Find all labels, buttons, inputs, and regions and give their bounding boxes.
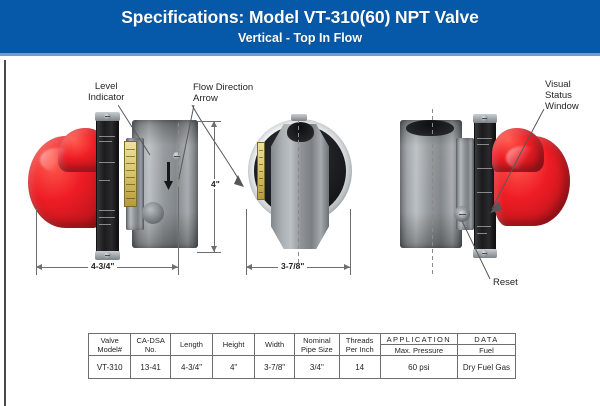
callout-flow-direction-arrow: Flow Direction Arrow: [193, 82, 253, 104]
ext-line-height-top: [197, 121, 221, 122]
plate-screw-top-left: [104, 113, 111, 120]
callout-reset: Reset: [493, 277, 518, 288]
cell-height: 4": [213, 356, 255, 379]
cell-nominal-pipe-size: 3/4": [295, 356, 340, 379]
plate-text-line: [99, 141, 112, 142]
valve-side-view-left: [26, 114, 201, 264]
cell-length: 4-3/4": [170, 356, 212, 379]
dim-label-height: 4": [208, 179, 223, 189]
dim-label-length: 4-3/4": [88, 261, 117, 271]
callout-visual-status-window: Visual Status Window: [545, 79, 579, 112]
valve-body-shading-right: [400, 120, 462, 248]
reset-screw-right: [458, 210, 467, 219]
th-max-pressure: Max. Pressure: [380, 345, 457, 356]
valve-bore-right: [406, 120, 454, 136]
header-underline: [0, 53, 600, 56]
th-group-application: APPLICATION: [380, 334, 457, 345]
cell-valve-model: VT-310: [89, 356, 131, 379]
dim-arrow-height-bottom: [211, 246, 217, 252]
valve-hub-left: [142, 202, 164, 224]
plate-text-line: [99, 136, 115, 137]
leader-level-indicator: [118, 105, 154, 157]
dim-arrow-width-right: [344, 264, 350, 270]
table-header-row-1: Valve Model# CA-DSA No. Length Height Wi…: [89, 334, 516, 345]
cell-fuel: Dry Fuel Gas: [457, 356, 515, 379]
page-header: Specifications: Model VT-310(60) NPT Val…: [0, 0, 600, 56]
th-height: Height: [213, 334, 255, 356]
ext-line-height-bottom: [197, 252, 221, 253]
flow-direction-arrow-glyph: [162, 162, 175, 192]
dim-arrow-height-top: [211, 121, 217, 127]
page-subtitle: Vertical - Top In Flow: [0, 29, 600, 47]
page-title: Specifications: Model VT-310(60) NPT Val…: [0, 7, 600, 28]
plate-text-line: [99, 224, 111, 225]
table-row: VT-310 13-41 4-3/4" 4" 3-7/8" 3/4" 14 60…: [89, 356, 516, 379]
valve-bore-center: [287, 122, 314, 142]
leader-visual-status-window: [486, 109, 546, 215]
centerline-center-figure: [298, 119, 299, 269]
leader-reset: [462, 221, 494, 281]
th-threads-per-inch: Threads Per Inch: [339, 334, 380, 356]
level-indicator-strip-center: [257, 142, 265, 200]
centerline-left-figure: [178, 123, 179, 187]
plate-text-line: [99, 217, 115, 218]
th-fuel: Fuel: [457, 345, 515, 356]
th-nominal-pipe-size: Nominal Pipe Size: [295, 334, 340, 356]
th-valve-model: Valve Model#: [89, 334, 131, 356]
valve-body-octagon-center: [271, 124, 329, 249]
th-group-data: DATA: [457, 334, 515, 345]
callout-level-indicator: Level Indicator: [88, 81, 124, 103]
ext-line-left-b: [178, 187, 179, 275]
cell-ca-dsa-no: 13-41: [131, 356, 170, 379]
stem-cap-center: [291, 114, 307, 121]
cell-width: 3-7/8": [255, 356, 295, 379]
centerline-right-figure: [432, 109, 433, 277]
cell-max-pressure: 60 psi: [380, 356, 457, 379]
plate-text-line: [99, 162, 115, 163]
dim-label-width: 3-7/8": [278, 261, 307, 271]
specifications-table: Valve Model# CA-DSA No. Length Height Wi…: [88, 333, 516, 379]
dim-arrow-width-left: [246, 264, 252, 270]
th-length: Length: [170, 334, 212, 356]
red-cap-highlight-left: [40, 148, 74, 172]
plate-text-line: [99, 210, 115, 211]
plate-screw-bottom-left: [104, 252, 111, 259]
dim-arrow-length-right: [172, 264, 178, 270]
cell-threads-per-inch: 14: [339, 356, 380, 379]
figure-panel: Level Indicator Flow Direction Arrow Vis…: [0, 59, 600, 309]
th-width: Width: [255, 334, 295, 356]
leader-flow-arrow-to-body: [184, 105, 246, 189]
ext-line-center-b: [350, 209, 351, 275]
th-ca-dsa-no: CA-DSA No.: [131, 334, 170, 356]
plate-text-line: [99, 180, 110, 181]
dim-arrow-length-left: [36, 264, 42, 270]
